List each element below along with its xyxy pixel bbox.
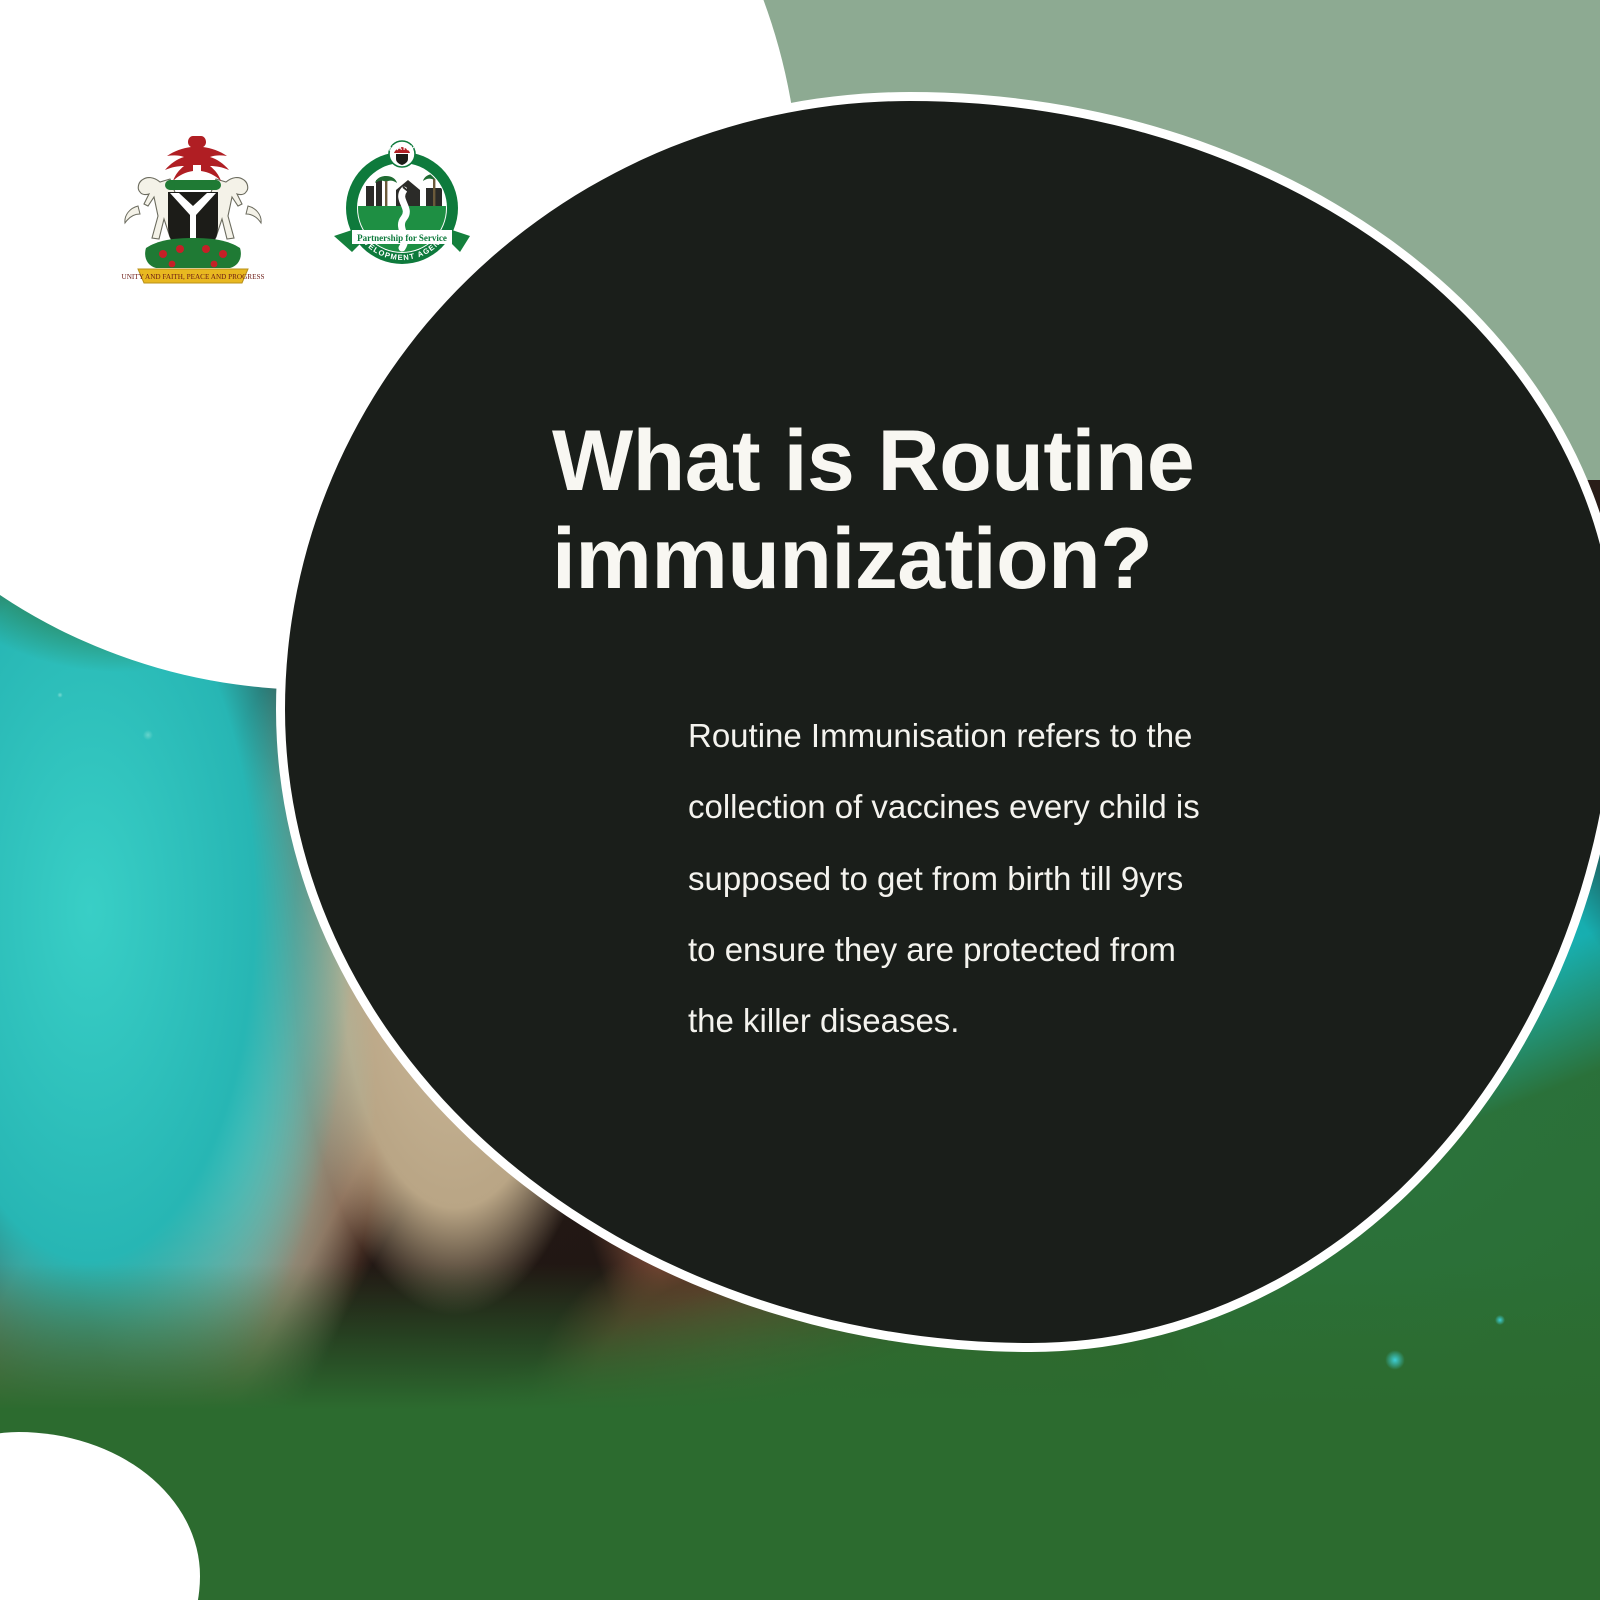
seal-ribbon-text: Partnership for Service	[357, 233, 447, 243]
nphcda-logo: NATIONAL PRIMARY HEALTHCARE DEVELOPMENT …	[322, 128, 482, 278]
body-paragraph: Routine Immunisation refers to the colle…	[688, 700, 1356, 1056]
body-line-1: Routine Immunisation refers to the	[688, 700, 1356, 771]
body-line-4: to ensure they are protected from	[688, 914, 1356, 985]
body-line-3: supposed to get from birth till 9yrs	[688, 843, 1356, 914]
poster-canvas: UNITY AND FAITH, PEACE AND PROGRESS	[0, 0, 1600, 1600]
body-line-5: the killer diseases.	[688, 985, 1356, 1056]
headline-line-1: What is Routine	[552, 412, 1372, 510]
body-line-2: collection of vaccines every child is	[688, 771, 1356, 842]
coat-of-arms-motto: UNITY AND FAITH, PEACE AND PROGRESS	[122, 273, 265, 281]
headline-line-2: immunization?	[552, 510, 1372, 608]
logo-row: UNITY AND FAITH, PEACE AND PROGRESS	[108, 128, 488, 308]
page-title: What is Routine immunization?	[552, 412, 1372, 608]
coat-of-arms-logo: UNITY AND FAITH, PEACE AND PROGRESS	[108, 128, 278, 293]
